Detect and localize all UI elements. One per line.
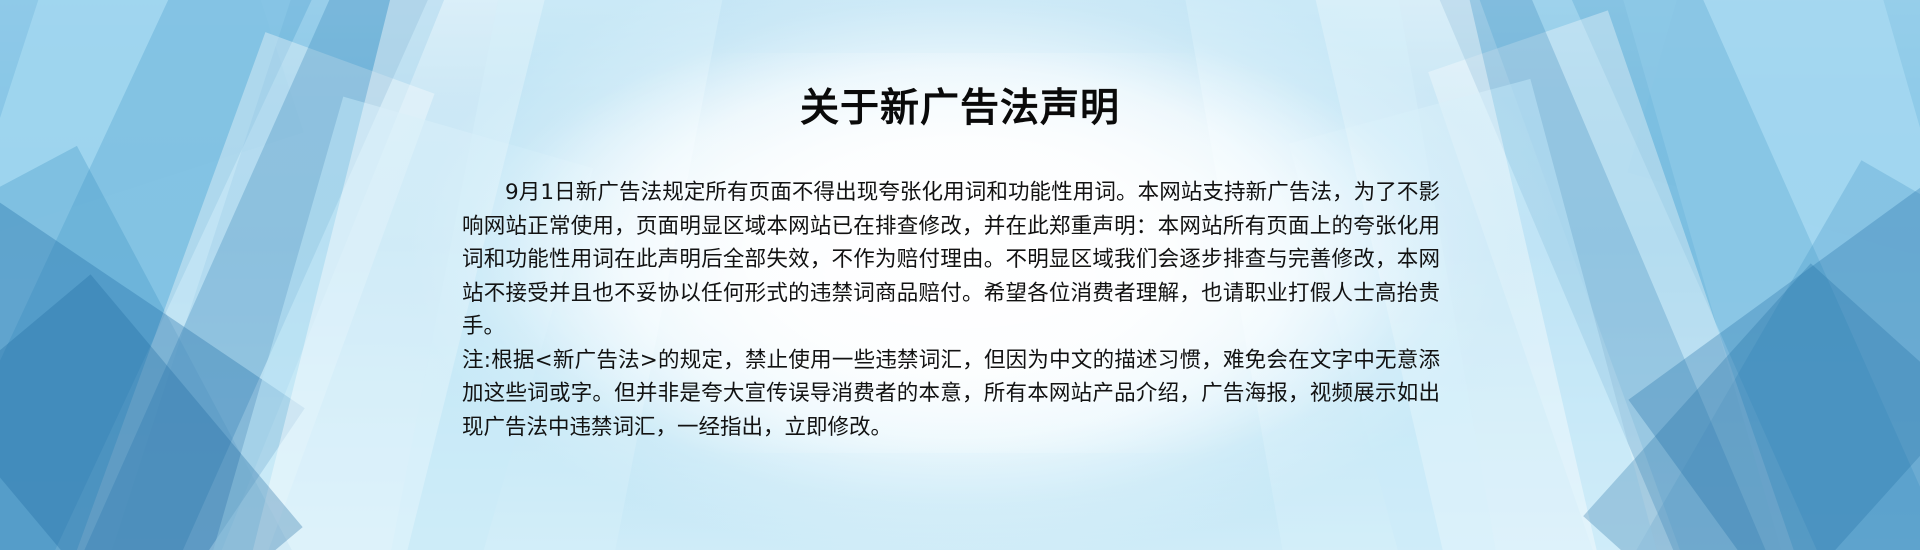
- advertising-law-statement-banner: 关于新广告法声明 9月1日新广告法规定所有页面不得出现夸张化用词和功能性用词。本…: [0, 0, 1920, 550]
- statement-body: 9月1日新广告法规定所有页面不得出现夸张化用词和功能性用词。本网站支持新广告法，…: [462, 176, 1440, 444]
- statement-paragraph-1: 9月1日新广告法规定所有页面不得出现夸张化用词和功能性用词。本网站支持新广告法，…: [462, 176, 1440, 344]
- statement-content: 关于新广告法声明 9月1日新广告法规定所有页面不得出现夸张化用词和功能性用词。本…: [0, 0, 1920, 550]
- statement-paragraph-2: 注:根据<新广告法>的规定，禁止使用一些违禁词汇，但因为中文的描述习惯，难免会在…: [462, 344, 1440, 445]
- page-title: 关于新广告法声明: [0, 84, 1920, 134]
